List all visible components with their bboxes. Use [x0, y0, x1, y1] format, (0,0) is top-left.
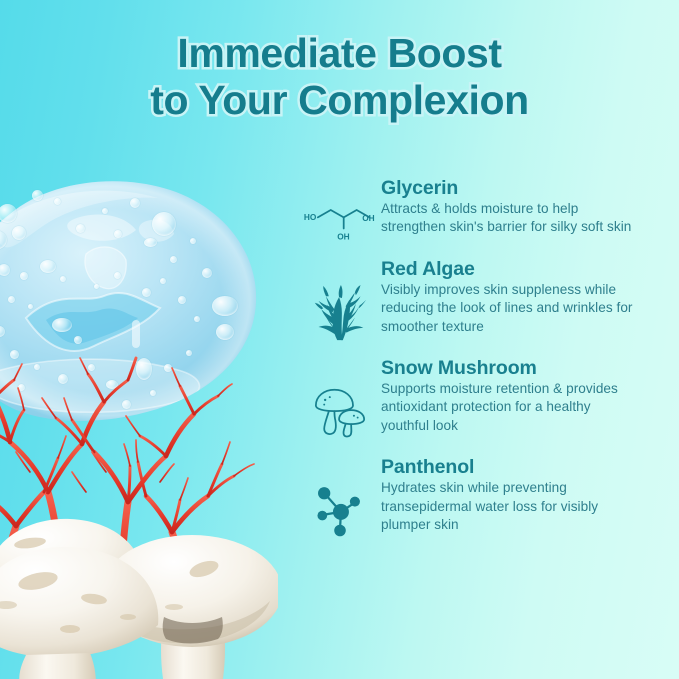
- infographic-page: Immediate Boost to Your Complexion HO OH…: [0, 0, 679, 679]
- page-title: Immediate Boost to Your Complexion: [0, 30, 679, 124]
- molecule-node-top-left: [318, 487, 330, 499]
- page-title-line-1: Immediate Boost: [0, 30, 679, 77]
- molecule-label-oh-right: OH: [362, 213, 374, 223]
- ingredient-description-snow-mushroom: Supports moisture retention & provides a…: [381, 380, 633, 435]
- ingredient-name-glycerin: Glycerin: [381, 176, 633, 200]
- ingredient-name-red-algae: Red Algae: [381, 257, 633, 281]
- molecule-nodes-icon: [303, 481, 377, 539]
- page-title-line-2: to Your Complexion: [0, 77, 679, 124]
- ingredient-item-red-algae: Red Algae Visibly improves skin supplene…: [303, 257, 633, 336]
- ingredient-item-panthenol: Panthenol Hydrates skin while preventing…: [303, 455, 633, 534]
- ingredient-name-snow-mushroom: Snow Mushroom: [381, 356, 633, 380]
- ingredient-description-glycerin: Attracts & holds moisture to help streng…: [381, 200, 633, 237]
- ingredient-list: HO OH OH Glycerin Attracts & holds moist…: [303, 176, 633, 534]
- white-mushrooms-image: [0, 495, 278, 679]
- mushroom-outline-icon: [303, 384, 377, 440]
- molecule-node-left: [317, 511, 327, 521]
- ingredient-item-glycerin: HO OH OH Glycerin Attracts & holds moist…: [303, 176, 633, 237]
- molecule-label-oh-bottom: OH: [337, 232, 349, 242]
- ingredient-description-panthenol: Hydrates skin while preventing transepid…: [381, 479, 633, 534]
- molecule-node-bottom: [334, 525, 346, 537]
- molecule-node-right: [350, 497, 360, 507]
- molecule-label-ho: HO: [304, 212, 317, 222]
- glycerol-molecule-icon: HO OH OH: [303, 204, 377, 240]
- coral-seaweed-icon: [303, 283, 377, 343]
- molecule-node-center: [333, 504, 349, 520]
- ingredient-description-red-algae: Visibly improves skin suppleness while r…: [381, 281, 633, 336]
- ingredient-item-snow-mushroom: Snow Mushroom Supports moisture retentio…: [303, 356, 633, 435]
- ingredient-name-panthenol: Panthenol: [381, 455, 633, 479]
